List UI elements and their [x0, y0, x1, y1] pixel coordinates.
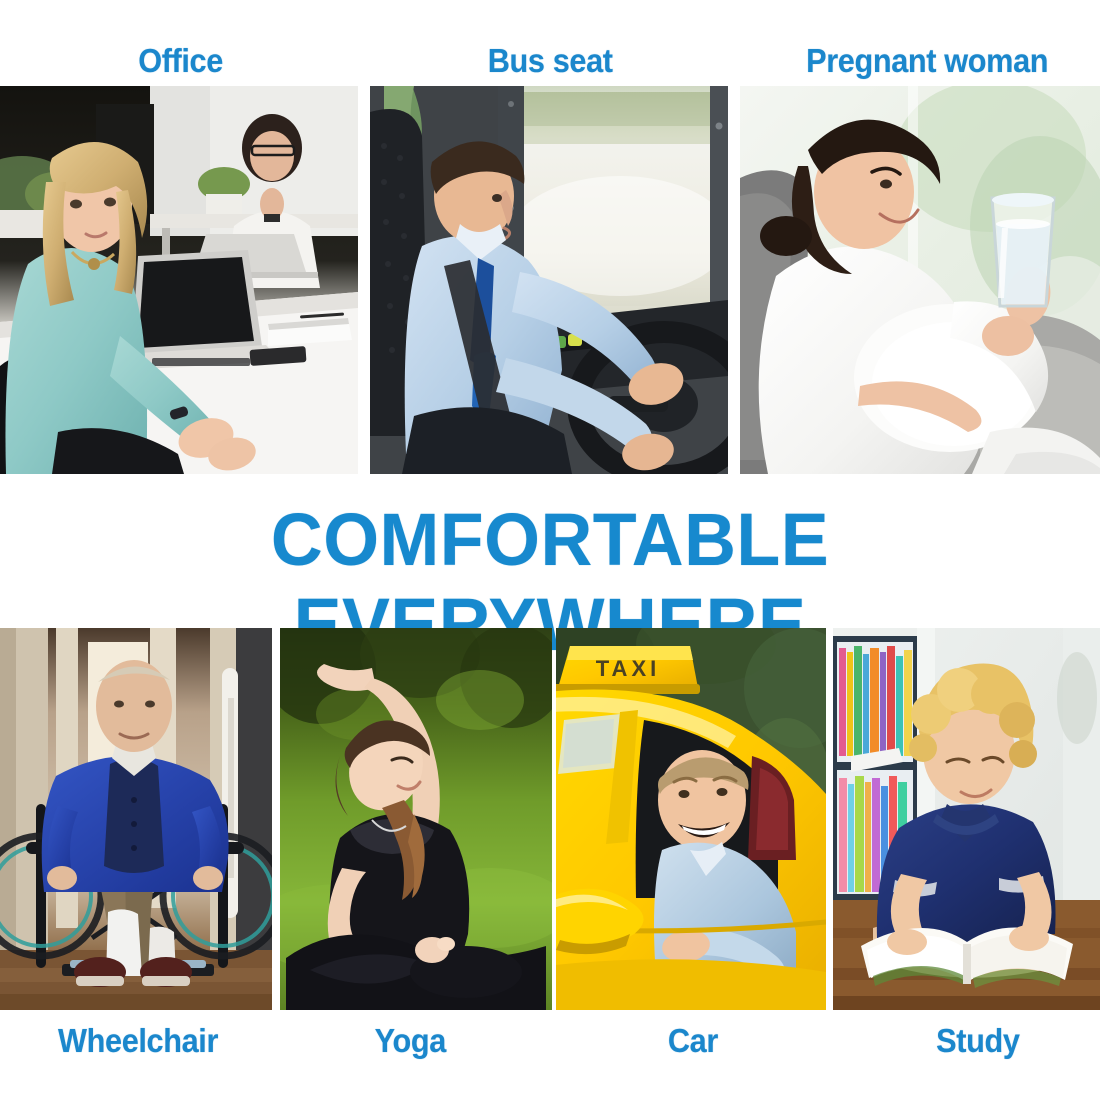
photo-label-car: Car	[668, 1022, 718, 1060]
photo-pregnant-woman	[740, 86, 1100, 474]
photo-label-wheelchair: Wheelchair	[58, 1022, 218, 1060]
photo-label-bus-seat: Bus seat	[488, 42, 613, 80]
photo-wheelchair	[0, 628, 272, 1010]
photo-bus-seat	[370, 86, 728, 474]
photo-label-office: Office	[138, 42, 223, 80]
photo-office	[0, 86, 358, 474]
photo-label-study: Study	[936, 1022, 1019, 1060]
svg-text:TAXI: TAXI	[596, 656, 660, 681]
photo-label-pregnant-woman: Pregnant woman	[806, 42, 1048, 80]
photo-car: TAXI	[556, 628, 826, 1010]
photo-study	[833, 628, 1100, 1010]
photo-yoga	[280, 628, 552, 1010]
photo-label-yoga: Yoga	[375, 1022, 446, 1060]
product-collage: Office Bus seat Pregnant woman	[0, 0, 1100, 1100]
